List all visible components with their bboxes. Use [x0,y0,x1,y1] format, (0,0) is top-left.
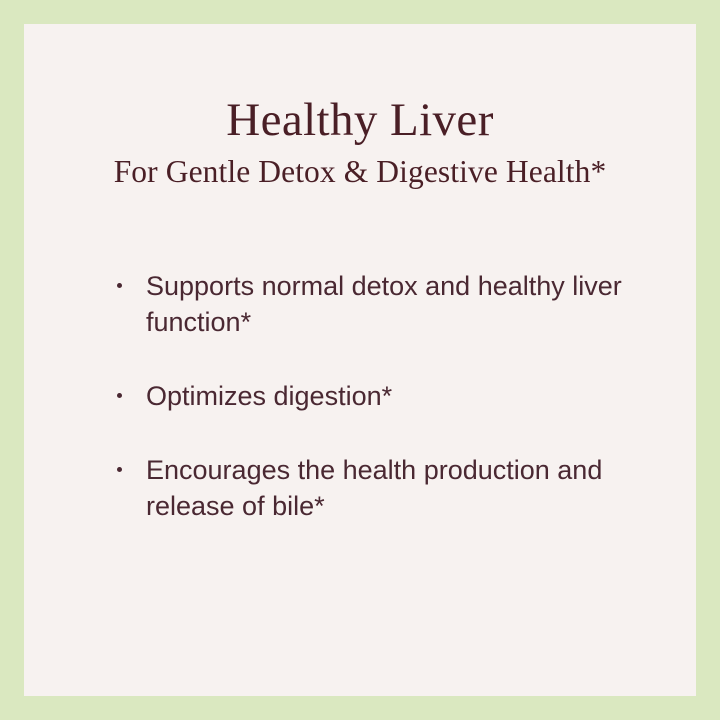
bullet-dot-icon [117,467,122,472]
product-benefit-card: Healthy Liver For Gentle Detox & Digesti… [0,0,720,720]
benefits-list: Supports normal detox and healthy liver … [97,268,637,524]
list-item: Supports normal detox and healthy liver … [97,268,637,340]
card-inner-panel: Healthy Liver For Gentle Detox & Digesti… [24,24,696,696]
benefit-text: Encourages the health production and rel… [146,452,637,524]
benefit-text: Optimizes digestion* [146,378,637,414]
bullet-dot-icon [117,393,122,398]
heading-block: Healthy Liver For Gentle Detox & Digesti… [24,96,696,189]
page-subtitle: For Gentle Detox & Digestive Health* [24,154,696,189]
page-title: Healthy Liver [24,96,696,146]
list-item: Encourages the health production and rel… [97,452,637,524]
list-item: Optimizes digestion* [97,378,637,414]
benefit-text: Supports normal detox and healthy liver … [146,268,637,340]
bullet-dot-icon [117,283,122,288]
